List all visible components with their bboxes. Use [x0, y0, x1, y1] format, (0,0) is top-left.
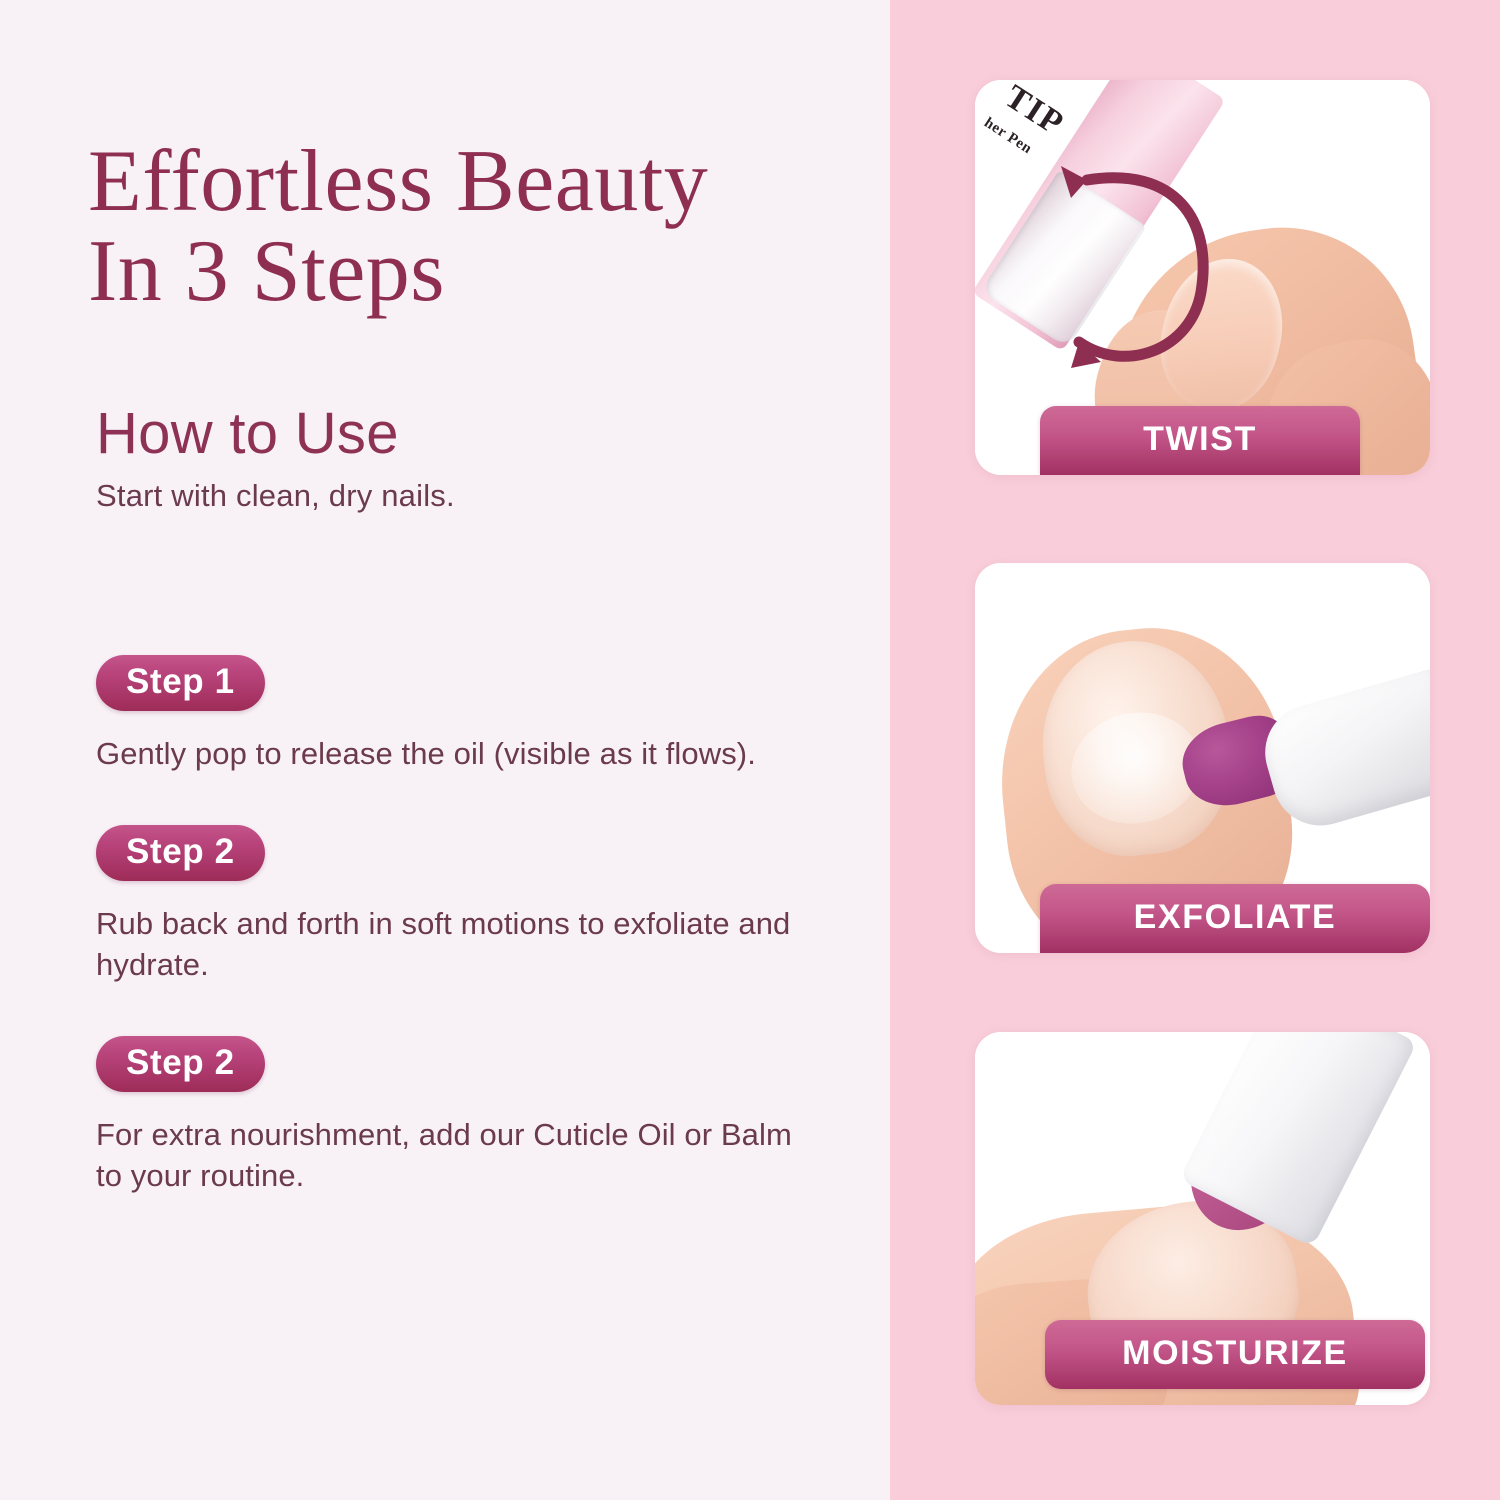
how-to-use-block: How to Use Start with clean, dry nails.	[96, 405, 796, 516]
photo-caption-twist: TWIST	[1040, 406, 1360, 475]
photo-caption-exfoliate: EXFOLIATE	[1040, 884, 1430, 953]
step-text-2: Rub back and forth in soft motions to ex…	[96, 903, 806, 986]
step-item: Step 1 Gently pop to release the oil (vi…	[96, 655, 836, 775]
page-title: Effortless Beauty In 3 Steps	[88, 137, 878, 317]
headline-line-1: Effortless Beauty	[88, 137, 878, 227]
step-item: Step 2 Rub back and forth in soft motion…	[96, 825, 836, 986]
photo-card-twist: TIP her Pen TWIST	[975, 80, 1430, 475]
left-content-pane: Effortless Beauty In 3 Steps How to Use …	[0, 0, 890, 1500]
step-item: Step 2 For extra nourishment, add our Cu…	[96, 1036, 836, 1197]
steps-list: Step 1 Gently pop to release the oil (vi…	[96, 655, 836, 1197]
step-badge-2: Step 2	[96, 825, 265, 881]
photo-card-exfoliate: EXFOLIATE	[975, 563, 1430, 953]
step-text-3: For extra nourishment, add our Cuticle O…	[96, 1114, 806, 1197]
step-text-1: Gently pop to release the oil (visible a…	[96, 733, 806, 775]
how-to-use-subtitle: Start with clean, dry nails.	[96, 477, 796, 516]
headline-line-2: In 3 Steps	[88, 227, 878, 317]
photo-caption-moisturize: MOISTURIZE	[1045, 1320, 1425, 1389]
step-badge-3: Step 2	[96, 1036, 265, 1092]
photo-card-moisturize: MOISTURIZE	[975, 1032, 1430, 1405]
how-to-use-title: How to Use	[96, 405, 796, 463]
infographic-root: Effortless Beauty In 3 Steps How to Use …	[0, 0, 1500, 1500]
right-photo-pane: TIP her Pen TWIST	[890, 0, 1500, 1500]
step-badge-1: Step 1	[96, 655, 265, 711]
